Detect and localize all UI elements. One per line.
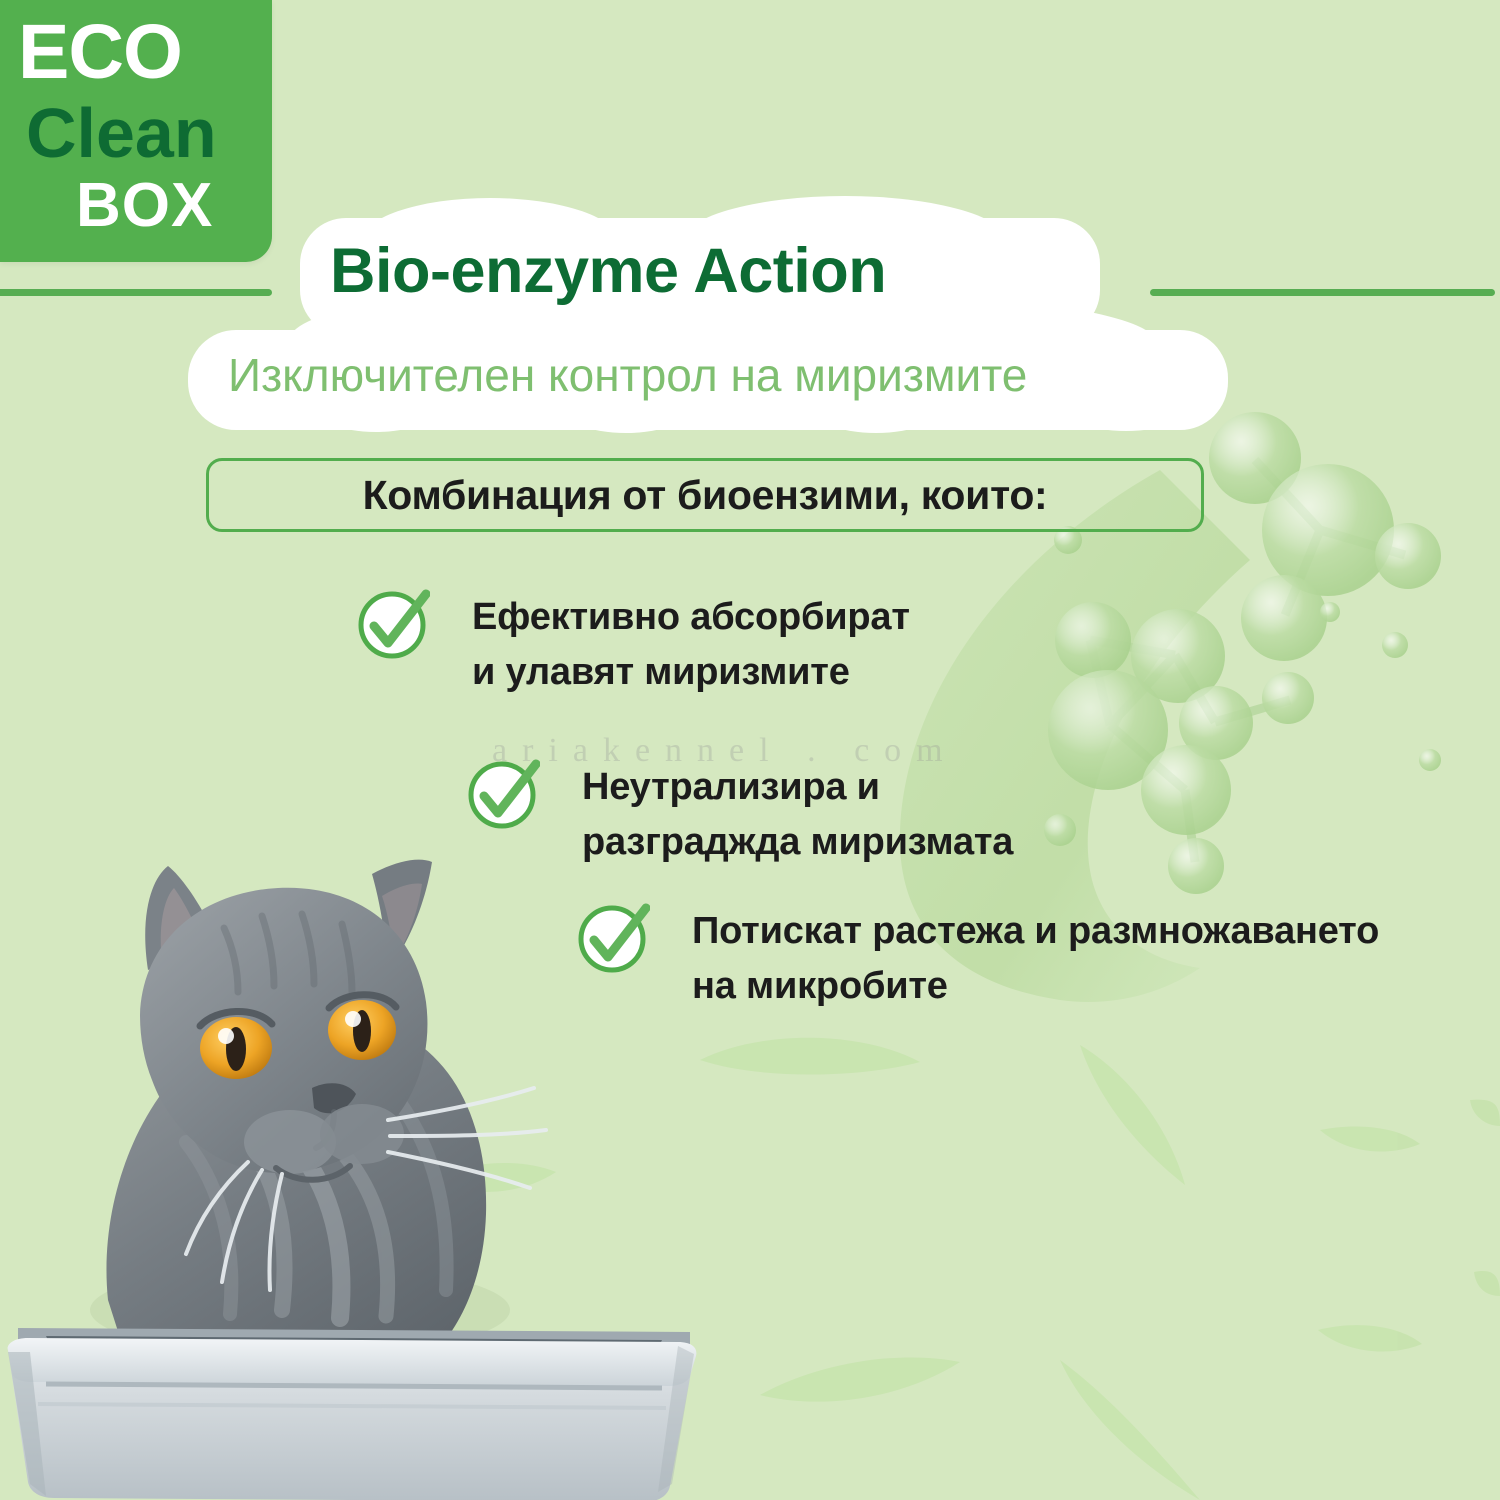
- page-title: Bio-enzyme Action: [330, 240, 1090, 303]
- logo-line-box: BOX: [76, 175, 213, 237]
- litter-box-back-rim: [18, 1328, 690, 1368]
- enzyme-callout-text: Комбинация от биоензими, които:: [363, 472, 1048, 519]
- product-infographic: ECO Clean BOX Bio-enzyme Action Изключит…: [0, 0, 1500, 1500]
- grey-cat-in-litter-box-photo: [0, 770, 710, 1500]
- cat-eye-left: [200, 1011, 272, 1079]
- benefit-text-3: Потискат растежа и размножаването на мик…: [692, 900, 1379, 1014]
- litter-box-interior: [46, 1336, 662, 1374]
- benefit-item-2: Неутрализира и разграджда миризмата: [466, 756, 1013, 870]
- page-subtitle: Изключителен контрол на миризмите: [228, 350, 1208, 401]
- benefit-line: на микробите: [692, 959, 1379, 1014]
- benefit-line: и улавят миризмите: [472, 645, 910, 700]
- cat-ear-right: [372, 860, 432, 970]
- benefit-text-2: Неутрализира и разграджда миризмата: [582, 756, 1013, 870]
- benefit-item-3: Потискат растежа и размножаването на мик…: [576, 900, 1379, 1014]
- leaf-blades-graphic: [215, 1038, 1500, 1500]
- check-circle-icon: [466, 756, 540, 830]
- header-rule-right: [1150, 289, 1495, 296]
- cat-ear-left: [145, 866, 228, 970]
- litter-box-body: [8, 1340, 695, 1500]
- logo-line-clean: Clean: [26, 98, 217, 168]
- cat-body: [106, 1010, 486, 1344]
- logo-line-eco: ECO: [18, 14, 182, 91]
- cat-muzzle-right: [320, 1104, 404, 1164]
- benefit-line: Потискат растежа и размножаването: [692, 904, 1379, 959]
- litter-box-rim: [8, 1338, 697, 1386]
- header-rule-left: [0, 289, 272, 296]
- cat-nose: [312, 1083, 356, 1113]
- enzyme-callout-box: Комбинация от биоензими, които:: [206, 458, 1204, 532]
- cat-eye-right: [328, 995, 396, 1060]
- cat-muzzle-left: [244, 1110, 336, 1174]
- benefit-line: Ефективно абсорбират: [472, 590, 910, 645]
- cat-head: [140, 888, 427, 1173]
- brand-logo[interactable]: ECO Clean BOX: [0, 0, 272, 262]
- cat-whiskers: [186, 1088, 546, 1290]
- benefit-line: разграджда миризмата: [582, 815, 1013, 870]
- check-circle-icon: [576, 900, 650, 974]
- benefit-text-1: Ефективно абсорбират и улавят миризмите: [472, 586, 910, 700]
- check-circle-icon: [356, 586, 430, 660]
- benefit-item-1: Ефективно абсорбират и улавят миризмите: [356, 586, 910, 700]
- benefit-line: Неутрализира и: [582, 760, 1013, 815]
